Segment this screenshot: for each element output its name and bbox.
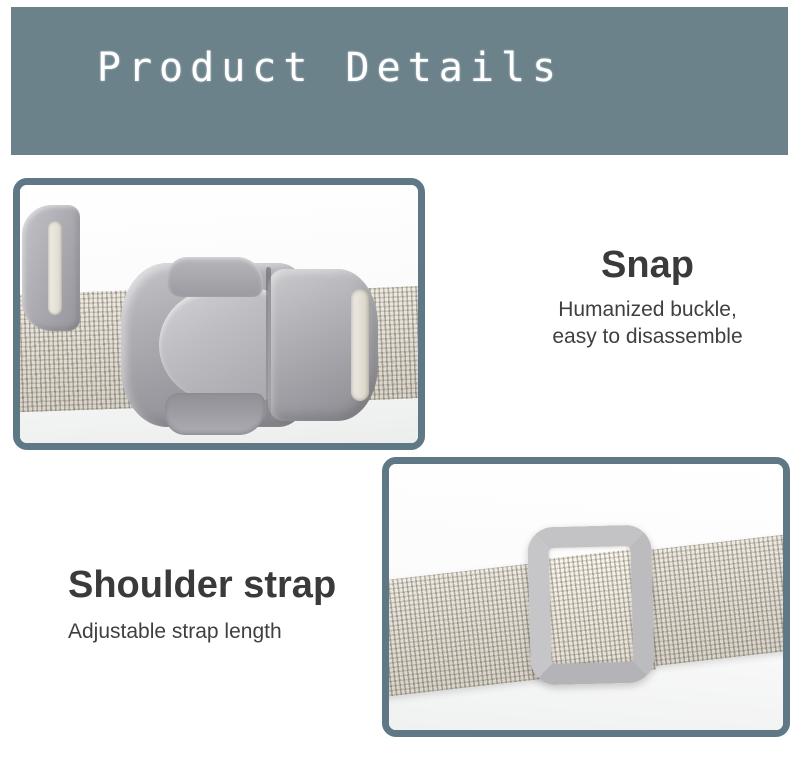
buckle-photo xyxy=(20,185,418,443)
slider-adjuster-buckle xyxy=(527,524,655,685)
page-title: Product Details xyxy=(0,44,715,92)
buckle-release-prong-top xyxy=(167,257,263,297)
photo-frame-shoulder-strap xyxy=(382,457,790,737)
buckle-seam-line xyxy=(266,267,271,423)
buckle-male-slot xyxy=(351,289,369,401)
feature-caption-snap: Snap Humanized buckle, easy to disassemb… xyxy=(505,243,790,350)
feature-subtitle-snap-line1: Humanized buckle, xyxy=(505,296,790,323)
header-banner: Product Details xyxy=(11,7,788,155)
buckle-loop-slot xyxy=(48,221,62,315)
feature-title-shoulder-strap: Shoulder strap xyxy=(68,563,336,607)
buckle-webbing-loop-left xyxy=(22,205,80,331)
photo-frame-snap-buckle xyxy=(13,178,425,450)
feature-subtitle-shoulder-strap: Adjustable strap length xyxy=(68,618,336,645)
feature-title-snap: Snap xyxy=(505,243,790,287)
feature-subtitle-snap-line2: easy to disassemble xyxy=(505,323,790,350)
buckle-male-end xyxy=(268,269,378,421)
feature-caption-shoulder-strap: Shoulder strap Adjustable strap length xyxy=(68,563,336,645)
buckle-release-prong-bottom xyxy=(165,393,265,435)
slider-photo xyxy=(389,464,783,730)
